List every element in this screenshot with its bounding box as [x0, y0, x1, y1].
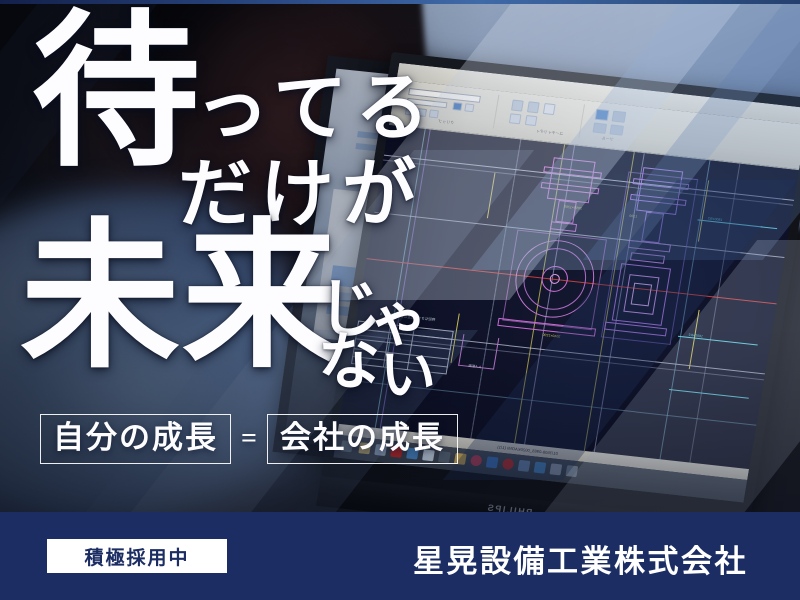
equation-operator: =: [241, 423, 257, 455]
headline-kana-tteru: ってる: [195, 72, 437, 146]
top-accent-strip: [0, 0, 800, 4]
headline-kana-i: い: [380, 348, 436, 404]
headline-kanji-machi: 待: [32, 10, 200, 178]
headline-kanji-mirai: 未来: [20, 218, 344, 378]
headline-kana-na: な: [318, 332, 380, 394]
hiring-badge[interactable]: 積極採用中: [47, 539, 227, 573]
footer-bar: 積極採用中 星晃設備工業株式会社: [0, 512, 800, 600]
growth-equation: 自分の成長 = 会社の成長: [40, 414, 458, 464]
recruitment-banner: 図面-01 - [-任意/ROMA量産治具外形図] 1:2 [2040/20-0…: [0, 0, 800, 600]
company-name: 星晃設備工業株式会社: [413, 536, 748, 581]
equation-left-box: 自分の成長: [40, 414, 231, 464]
equation-right-box: 会社の成長: [267, 414, 458, 464]
